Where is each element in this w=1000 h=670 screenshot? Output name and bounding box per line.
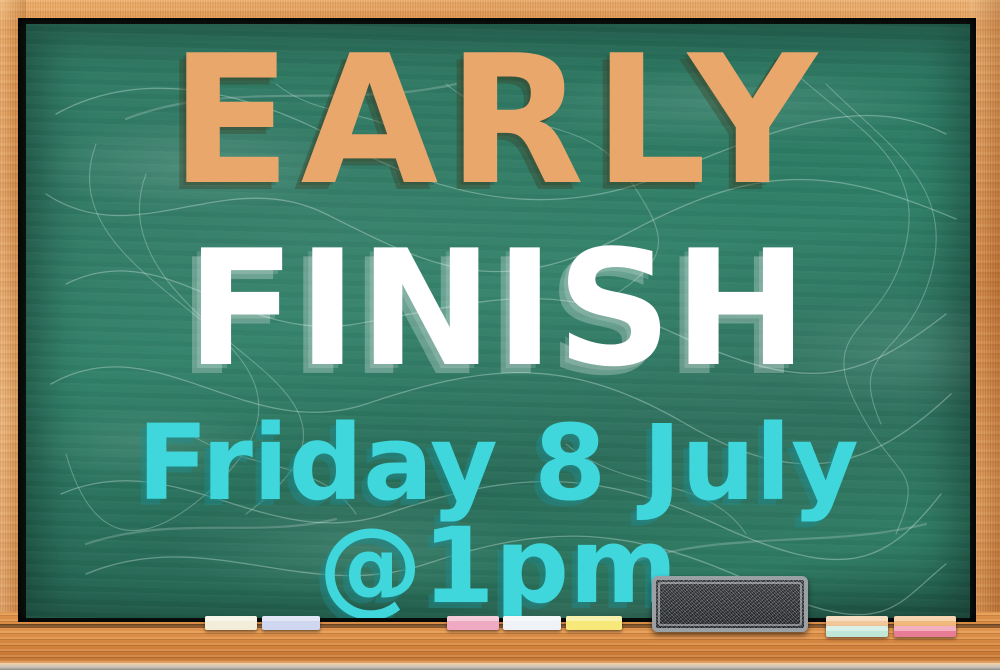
chalkboard-poster: EARLY FINISH Friday 8 July @1pm: [0, 0, 1000, 670]
headline-line-3: Friday 8 July: [26, 411, 970, 515]
slate-chalk-dust: [26, 24, 970, 618]
chalk-scribbles-icon: [26, 24, 970, 618]
poster-copy: EARLY FINISH Friday 8 July @1pm: [26, 24, 970, 618]
headline-line-4: @1pm: [26, 514, 970, 618]
headline-line-2: FINISH: [26, 229, 970, 389]
slate-wipe-bands: [26, 24, 970, 618]
chalkboard-slate: EARLY FINISH Friday 8 July @1pm: [26, 24, 970, 618]
headline-line-1: EARLY: [26, 32, 970, 210]
